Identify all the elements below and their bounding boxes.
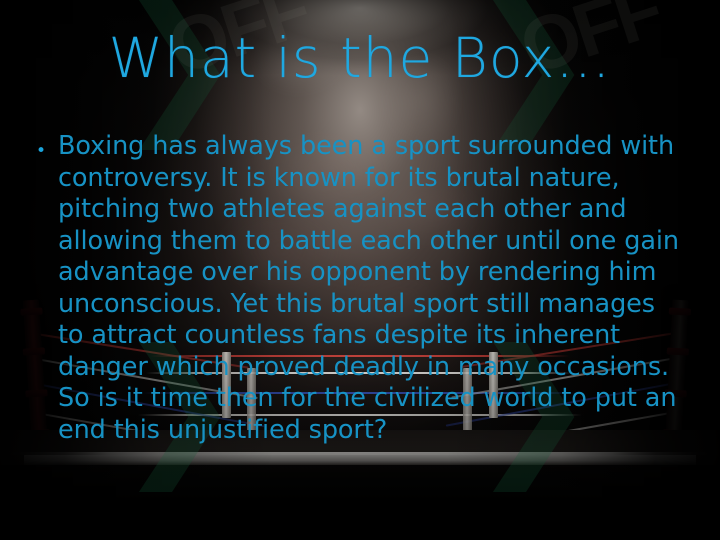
bullet-marker-icon: • xyxy=(36,131,58,160)
bullet-body-text: Boxing has always been a sport surrounde… xyxy=(58,131,684,446)
bullet-list-item: • Boxing has always been a sport surroun… xyxy=(36,131,684,446)
slide-body: • Boxing has always been a sport surroun… xyxy=(36,131,684,446)
presentation-slide: ❯ ❯ ❯ ❯ OFF OFF What is the Box… • Boxin… xyxy=(0,0,720,540)
slide-title: What is the Box… xyxy=(0,30,720,88)
